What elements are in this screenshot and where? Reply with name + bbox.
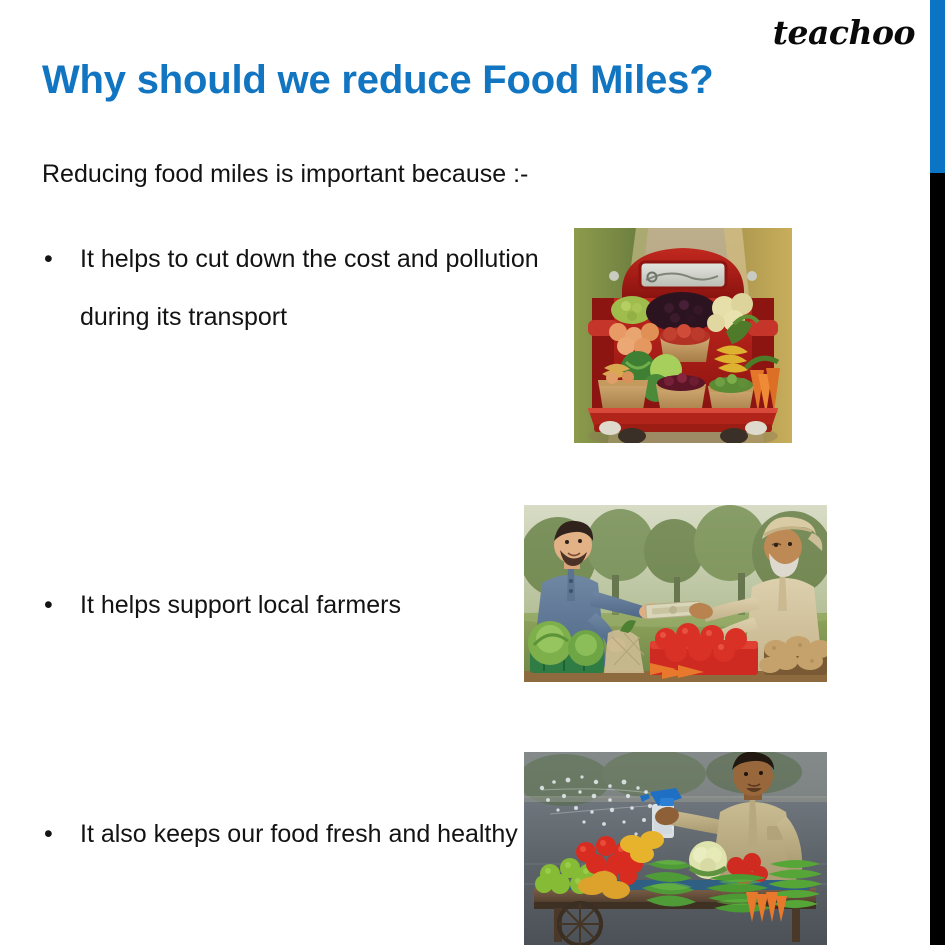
bullet-text: It also keeps our food fresh and healthy: [80, 805, 542, 863]
bullet-text: It helps support local farmers: [80, 576, 542, 634]
image-vendor-spraying-vegetables: [524, 752, 827, 945]
intro-text: Reducing food miles is important because…: [42, 160, 528, 189]
image-customer-paying-farmer: [524, 505, 827, 682]
bullet-marker-icon: •: [42, 805, 80, 863]
edge-accent-bar-black: [930, 173, 945, 945]
page-title: Why should we reduce Food Miles?: [42, 57, 713, 103]
vendor-cart-illustration: [524, 752, 827, 945]
edge-accent-bar-blue: [930, 0, 945, 173]
farmer-market-illustration: [524, 505, 827, 682]
truck-illustration: [574, 228, 792, 443]
bullet-item-local-farmers: • It helps support local farmers: [42, 576, 542, 634]
bullet-marker-icon: •: [42, 576, 80, 634]
bullet-text: It helps to cut down the cost and pollut…: [80, 230, 542, 346]
teachoo-logo: teachoo: [773, 16, 915, 49]
bullet-item-fresh-healthy: • It also keeps our food fresh and healt…: [42, 805, 542, 863]
slide: teachoo Why should we reduce Food Miles?…: [0, 0, 945, 945]
bullet-item-cost-pollution: • It helps to cut down the cost and poll…: [42, 230, 542, 346]
image-truck-with-produce: [574, 228, 792, 443]
bullet-marker-icon: •: [42, 230, 80, 288]
